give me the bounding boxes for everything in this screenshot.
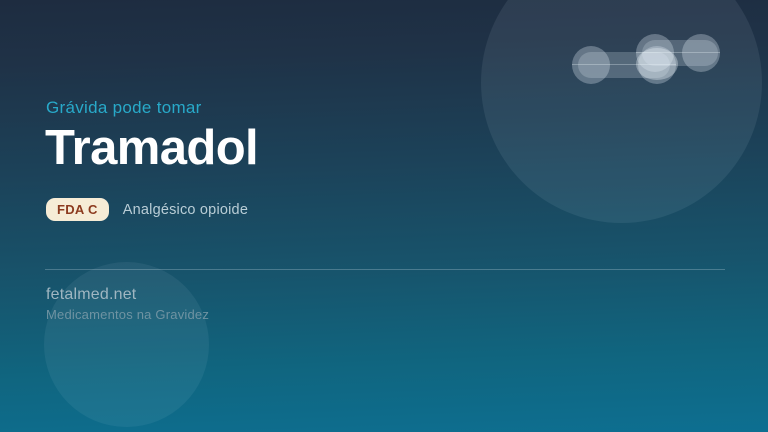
- eyebrow-label: Grávida pode tomar: [46, 98, 202, 118]
- site-name: fetalmed.net: [46, 286, 136, 304]
- drug-class-label: Analgésico opioide: [123, 202, 248, 218]
- card-content: Grávida pode tomar Tramadol FDA C Analgé…: [45, 0, 725, 432]
- divider: [45, 269, 725, 270]
- site-tagline: Medicamentos na Gravidez: [46, 307, 209, 322]
- page-title: Tramadol: [45, 121, 258, 176]
- meta-row: FDA C Analgésico opioide: [46, 198, 248, 221]
- medication-info-card: Grávida pode tomar Tramadol FDA C Analgé…: [0, 0, 768, 432]
- status-badge: FDA C: [46, 198, 109, 221]
